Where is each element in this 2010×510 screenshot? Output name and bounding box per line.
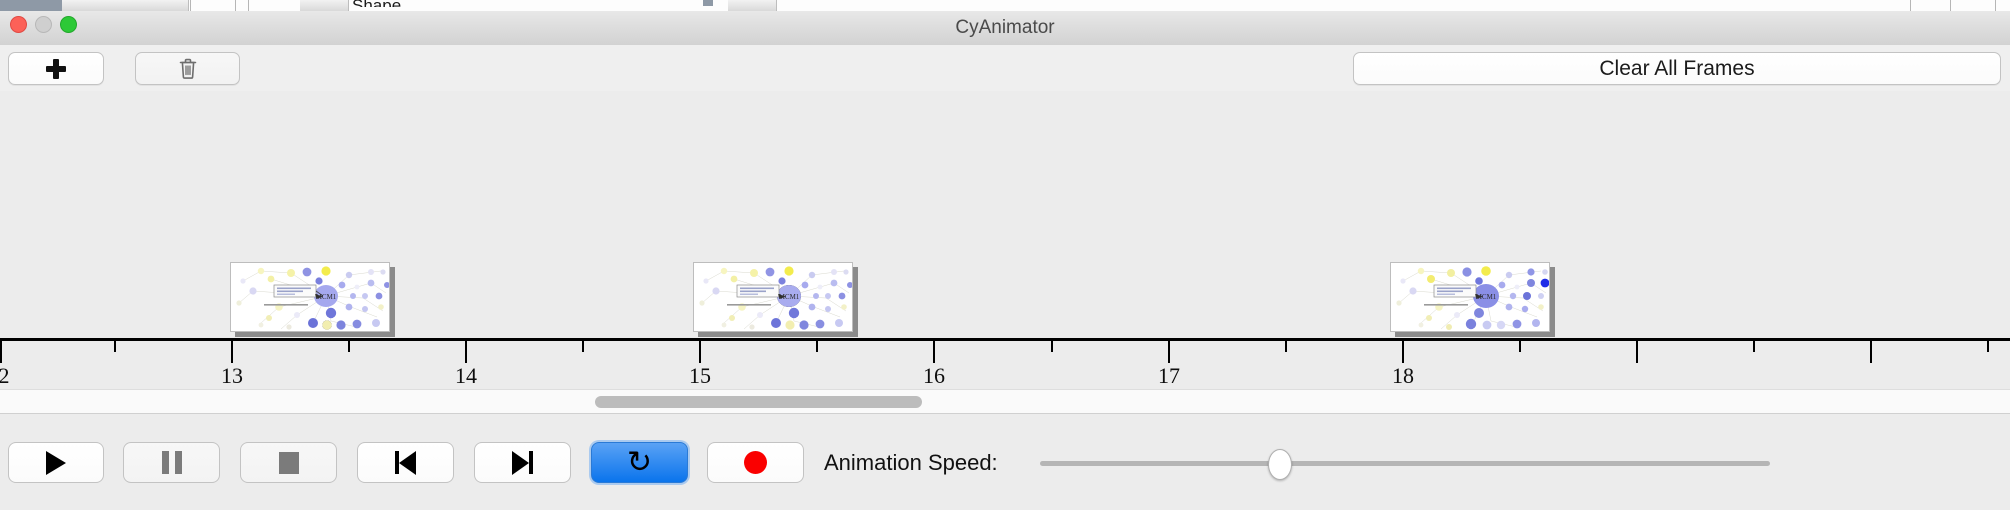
ruler-label: 17 [1158, 363, 1180, 389]
previous-frame-button[interactable] [357, 442, 454, 483]
ruler-label: 14 [455, 363, 477, 389]
slider-track[interactable] [1040, 461, 1770, 466]
add-frame-button[interactable] [8, 52, 104, 85]
ruler-tick-major [0, 341, 2, 363]
next-frame-button[interactable] [474, 442, 571, 483]
ruler-tick-major [1402, 341, 1404, 363]
ruler-tick-minor [816, 341, 818, 352]
frame-thumbnail[interactable]: MCM1 [693, 262, 856, 334]
ruler-tick-minor [1519, 341, 1521, 352]
ruler-tick-major [465, 341, 467, 363]
timeline-panel[interactable]: MCM1 [0, 91, 2010, 389]
ruler-tick-major [699, 341, 701, 363]
frame-network-preview: MCM1 [230, 262, 390, 332]
ruler-label: 18 [1392, 363, 1414, 389]
frame-network-preview: MCM1 [693, 262, 853, 332]
record-icon [744, 451, 767, 474]
cyanimator-window: Shape CyAnimator [0, 0, 2010, 510]
play-button[interactable] [8, 442, 104, 483]
scrollbar-thumb[interactable] [595, 396, 922, 408]
ruler-axis-line [0, 338, 2010, 341]
skip-next-icon [512, 451, 533, 475]
frame-thumbnail[interactable]: MCM1 [230, 262, 393, 334]
background-window-label: Shape [352, 0, 401, 7]
window-title: CyAnimator [0, 11, 2010, 45]
ruler-label: 16 [923, 363, 945, 389]
animation-speed-label: Animation Speed: [824, 442, 998, 483]
timeline-ruler[interactable]: 2 13 14 15 16 17 18 [0, 338, 2010, 389]
stop-icon [279, 452, 299, 474]
ruler-label: 13 [221, 363, 243, 389]
ruler-tick-minor [114, 341, 116, 352]
ruler-tick-minor [582, 341, 584, 352]
ruler-tick-major [933, 341, 935, 363]
title-bar[interactable]: CyAnimator [0, 11, 2010, 46]
ruler-tick-minor [1987, 341, 1989, 352]
playback-control-bar: ↻ Animation Speed: [0, 413, 2010, 510]
ruler-tick-minor [1051, 341, 1053, 352]
svg-text:MCM1: MCM1 [1476, 293, 1497, 301]
frame-thumbnail[interactable]: MCM1 [1390, 262, 1553, 334]
trash-icon [179, 58, 197, 79]
toolbar: Clear All Frames [0, 45, 2010, 92]
pause-icon [162, 451, 182, 474]
play-icon [46, 451, 66, 475]
ruler-tick-major [1636, 341, 1638, 363]
svg-text:MCM1: MCM1 [779, 293, 800, 301]
delete-frame-button[interactable] [135, 52, 240, 85]
background-window-strip: Shape [0, 0, 2010, 11]
ruler-tick-major [1870, 341, 1872, 363]
ruler-tick-major [1168, 341, 1170, 363]
stop-button[interactable] [240, 442, 337, 483]
skip-previous-icon [395, 451, 416, 475]
record-button[interactable] [707, 442, 804, 483]
animation-speed-slider[interactable] [1040, 461, 1770, 466]
ruler-tick-major [231, 341, 233, 363]
ruler-tick-minor [1753, 341, 1755, 352]
loop-button[interactable]: ↻ [591, 442, 688, 483]
loop-icon: ↻ [627, 448, 652, 478]
ruler-tick-minor [348, 341, 350, 352]
svg-text:MCM1: MCM1 [316, 293, 337, 301]
timeline-horizontal-scrollbar[interactable] [0, 389, 2010, 414]
slider-knob[interactable] [1268, 449, 1292, 480]
pause-button[interactable] [123, 442, 220, 483]
ruler-label: 2 [0, 363, 10, 389]
frame-network-preview: MCM1 [1390, 262, 1550, 332]
clear-all-frames-button[interactable]: Clear All Frames [1353, 52, 2001, 85]
ruler-label: 15 [689, 363, 711, 389]
ruler-tick-minor [1285, 341, 1287, 352]
plus-icon [46, 59, 66, 79]
